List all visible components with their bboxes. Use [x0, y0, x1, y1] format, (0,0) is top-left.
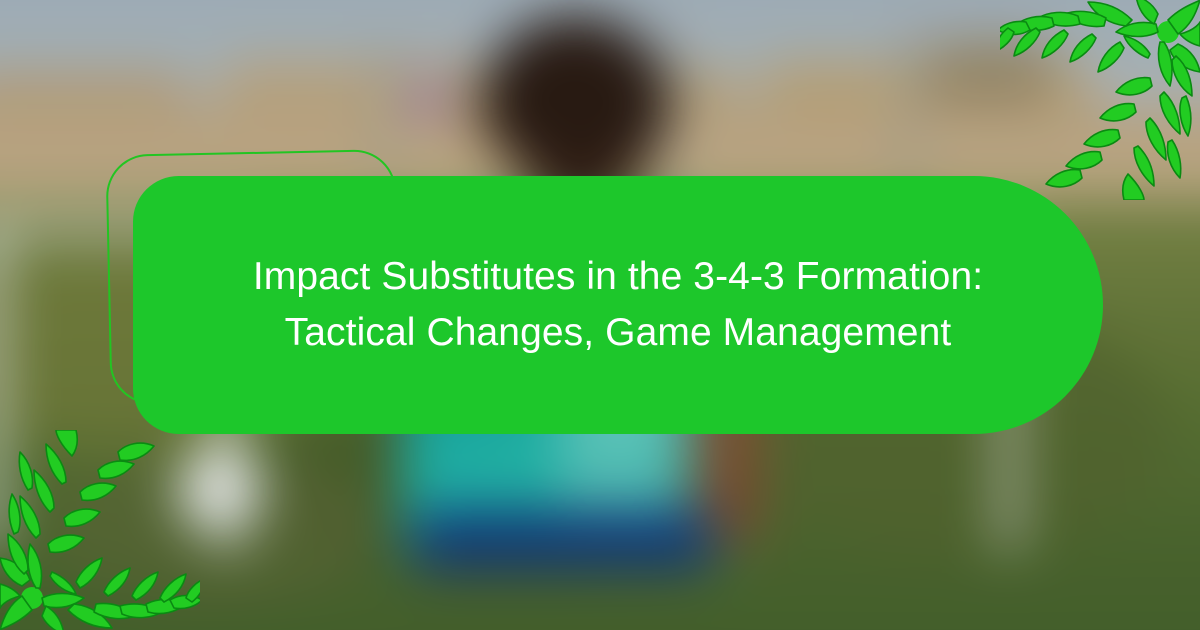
title-line-1: Impact Substitutes in the 3-4-3 Formatio… — [253, 249, 983, 305]
social-share-card: Impact Substitutes in the 3-4-3 Formatio… — [0, 0, 1200, 630]
page-title: Impact Substitutes in the 3-4-3 Formatio… — [253, 249, 983, 361]
title-line-2: Tactical Changes, Game Management — [253, 305, 983, 361]
title-card: Impact Substitutes in the 3-4-3 Formatio… — [133, 176, 1103, 434]
